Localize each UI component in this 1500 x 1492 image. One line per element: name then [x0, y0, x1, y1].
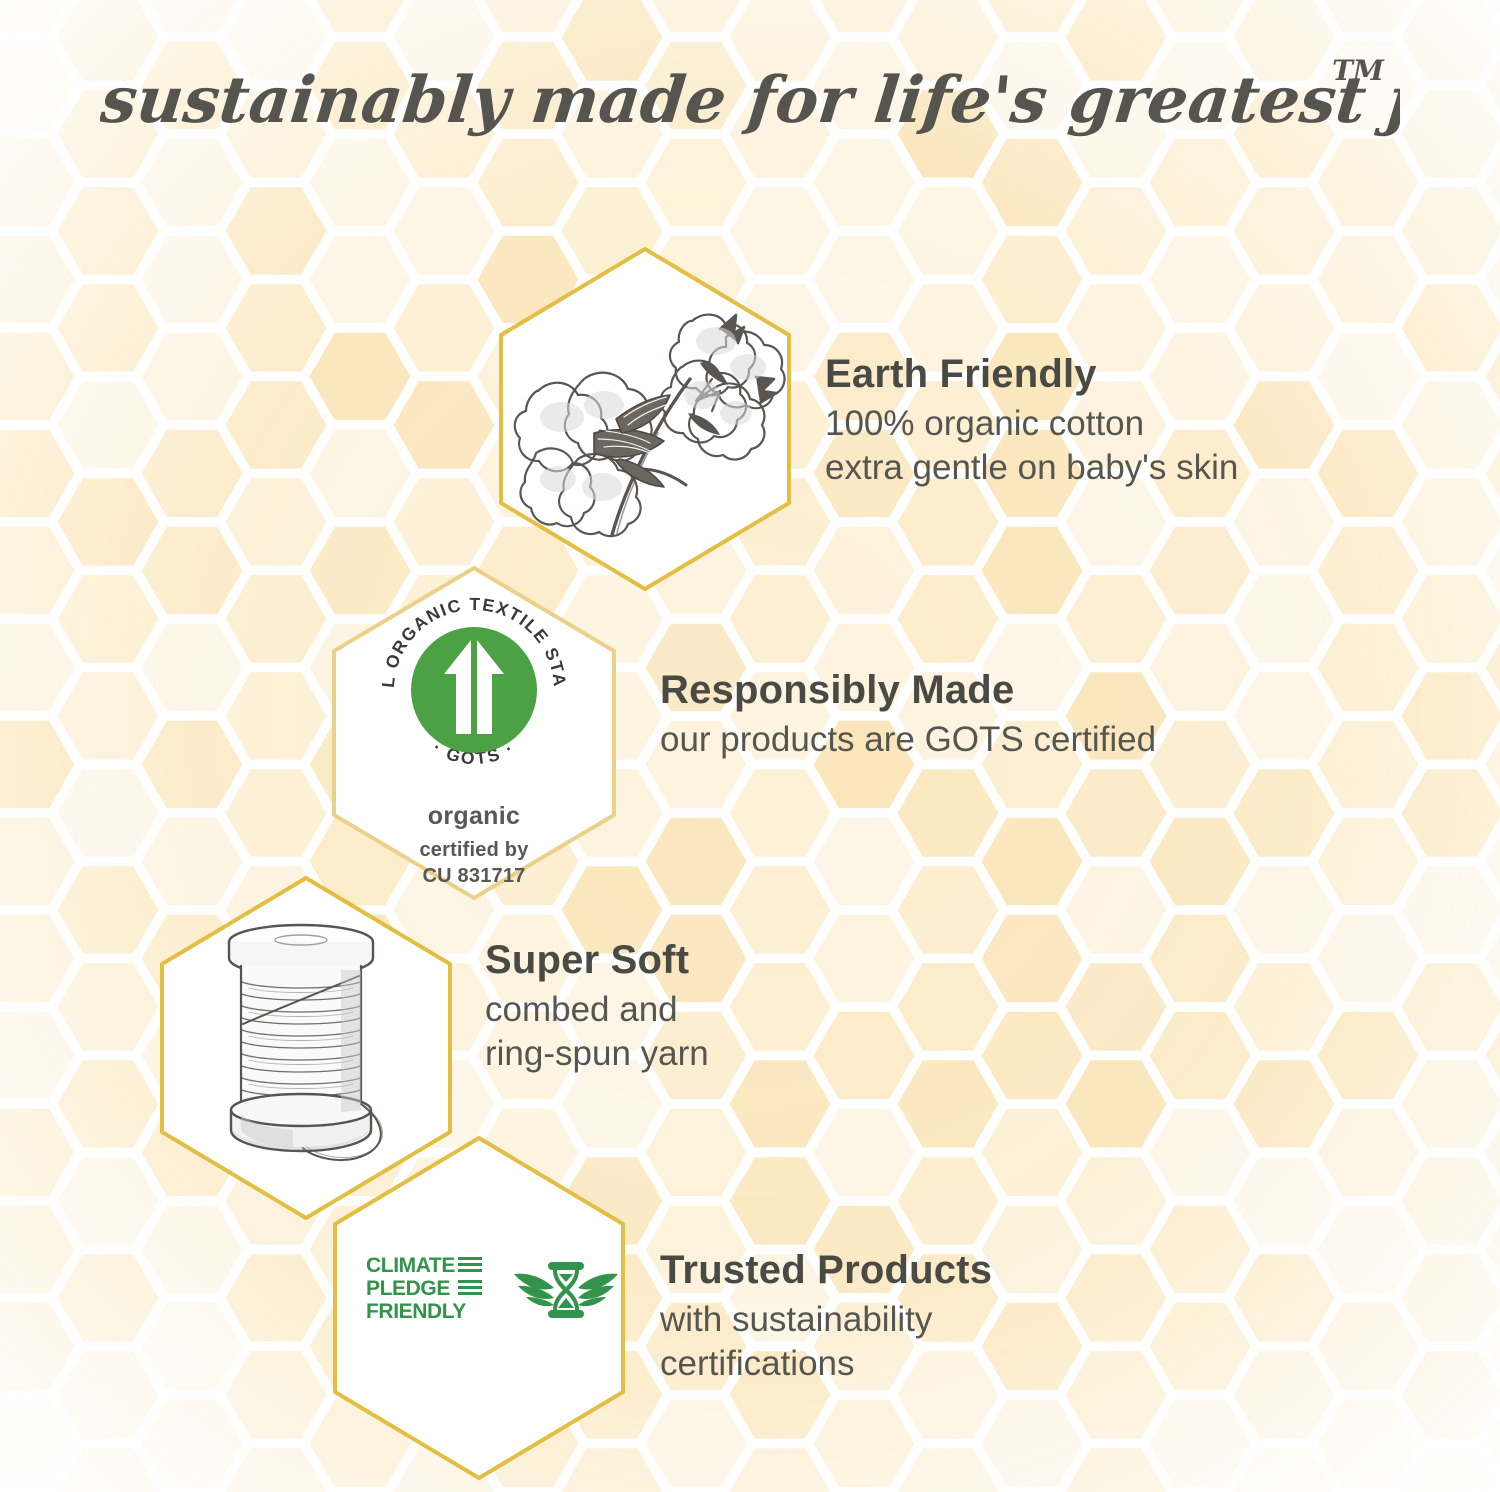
honeycomb-cell — [58, 1448, 159, 1492]
hexagon-card-super-soft — [145, 872, 467, 1224]
honeycomb-cell — [1318, 1206, 1419, 1293]
gots-green-disc — [411, 627, 537, 753]
honeycomb-cell — [982, 139, 1083, 226]
honeycomb-cell — [478, 42, 579, 129]
honeycomb-cell — [982, 0, 1083, 32]
honeycomb-cell — [310, 42, 411, 129]
honeycomb-cell — [478, 139, 579, 226]
honeycomb-cell — [1234, 575, 1335, 662]
honeycomb-cell — [1150, 1012, 1251, 1099]
honeycomb-cell — [1402, 769, 1500, 856]
honeycomb-cell — [310, 236, 411, 323]
honeycomb-cell — [58, 1157, 159, 1244]
honeycomb-cell — [730, 0, 831, 81]
honeycomb-cell — [226, 187, 327, 274]
honeycomb-cell — [1150, 818, 1251, 905]
honeycomb-cell — [1066, 963, 1167, 1050]
honeycomb-cell — [0, 721, 74, 808]
honeycomb-cell — [142, 42, 243, 129]
honeycomb-cell — [142, 236, 243, 323]
honeycomb-cell — [58, 575, 159, 662]
honeycomb-cell — [0, 915, 74, 1002]
honeycomb-cell — [982, 527, 1083, 614]
honeycomb-cell — [142, 624, 243, 711]
honeycomb-cell — [1402, 187, 1500, 274]
feature-heading: Trusted Products — [660, 1248, 1280, 1293]
honeycomb-cell — [898, 187, 999, 274]
honeycomb-cell — [898, 1157, 999, 1244]
honeycomb-cell — [1066, 575, 1167, 662]
honeycomb-cell — [142, 721, 243, 808]
honeycomb-cell — [1318, 915, 1419, 1002]
feature-heading: Super Soft — [485, 938, 1045, 983]
honeycomb-cell — [58, 90, 159, 177]
honeycomb-cell — [1066, 866, 1167, 953]
winged-hourglass-icon — [512, 1252, 620, 1328]
honeycomb-cell — [1234, 1157, 1335, 1244]
honeycomb-cell — [1150, 139, 1251, 226]
honeycomb-cell — [0, 818, 74, 905]
honeycomb-cell — [1066, 1157, 1167, 1244]
honeycomb-cell — [1318, 0, 1419, 32]
honeycomb-cell — [58, 381, 159, 468]
honeycomb-cell — [1402, 1254, 1500, 1341]
honeycomb-cell — [1318, 1109, 1419, 1196]
honeycomb-cell — [142, 1400, 243, 1487]
honeycomb-cell — [982, 1400, 1083, 1487]
honeycomb-cell — [226, 769, 327, 856]
honeycomb-cell — [1066, 187, 1167, 274]
honeycomb-cell — [1066, 1060, 1167, 1147]
honeycomb-cell — [814, 1109, 915, 1196]
honeycomb-cell — [1234, 769, 1335, 856]
honeycomb-cell — [646, 0, 747, 32]
honeycomb-cell — [646, 42, 747, 129]
honeycomb-cell — [1402, 963, 1500, 1050]
honeycomb-cell — [982, 236, 1083, 323]
honeycomb-cell — [1402, 866, 1500, 953]
honeycomb-cell — [814, 527, 915, 614]
climate-line-1: CLIMATE — [366, 1254, 455, 1277]
honeycomb-cell — [982, 1109, 1083, 1196]
honeycomb-cell — [0, 1206, 74, 1293]
feature-text-trusted-products: Trusted Products with sustainability cer… — [660, 1248, 1280, 1386]
honeycomb-cell — [1234, 187, 1335, 274]
honeycomb-cell — [730, 769, 831, 856]
honeycomb-cell — [1402, 90, 1500, 177]
honeycomb-cell — [646, 139, 747, 226]
honeycomb-cell — [0, 139, 74, 226]
honeycomb-cell — [1234, 963, 1335, 1050]
honeycomb-cell — [814, 0, 915, 32]
honeycomb-cell — [310, 139, 411, 226]
feature-body: with sustainability certifications — [660, 1298, 1280, 1386]
honeycomb-cell — [898, 90, 999, 177]
honeycomb-cell — [1318, 1400, 1419, 1487]
honeycomb-cell — [1402, 1060, 1500, 1147]
honeycomb-cell — [814, 42, 915, 129]
honeycomb-cell — [58, 963, 159, 1050]
honeycomb-cell — [58, 478, 159, 565]
honeycomb-cell — [1318, 527, 1419, 614]
honeycomb-cell — [394, 284, 495, 371]
gots-seal: GLOBAL ORGANIC TEXTILE STANDARD · GOTS · — [372, 588, 576, 792]
honeycomb-cell — [1402, 1448, 1500, 1492]
climate-line-3: FRIENDLY — [366, 1300, 466, 1323]
honeycomb-cell — [1150, 42, 1251, 129]
honeycomb-cell — [1402, 1157, 1500, 1244]
honeycomb-cell — [394, 90, 495, 177]
honeycomb-cell — [1150, 0, 1251, 32]
feature-text-responsibly-made: Responsibly Made our products are GOTS c… — [660, 668, 1380, 762]
honeycomb-cell — [58, 1351, 159, 1438]
honeycomb-cell — [0, 42, 74, 129]
honeycomb-cell — [58, 672, 159, 759]
honeycomb-cell — [730, 90, 831, 177]
honeycomb-cell — [898, 769, 999, 856]
feature-body: combed and ring-spun yarn — [485, 988, 1045, 1076]
honeycomb-cell — [562, 0, 663, 81]
honeycomb-cell — [898, 0, 999, 81]
honeycomb-cell — [1402, 672, 1500, 759]
honeycomb-cell — [814, 1400, 915, 1487]
honeycomb-cell — [1234, 90, 1335, 177]
honeycomb-cell — [142, 333, 243, 420]
honeycomb-cell — [0, 624, 74, 711]
certified-by-text: certified by — [419, 839, 528, 861]
honeycomb-cell — [1234, 1448, 1335, 1492]
climate-stripe-accents — [458, 1257, 482, 1295]
honeycomb-cell — [1150, 1400, 1251, 1487]
honeycomb-cell — [58, 866, 159, 953]
honeycomb-cell — [310, 0, 411, 32]
climate-pledge-friendly-icon: CLIMATE PLEDGE FRIENDLY — [366, 1252, 620, 1328]
feature-text-earth-friendly: Earth Friendly 100% organic cotton extra… — [825, 352, 1425, 490]
honeycomb-cell — [226, 284, 327, 371]
gots-certification-icon: GLOBAL ORGANIC TEXTILE STANDARD · GOTS ·… — [318, 588, 630, 889]
honeycomb-cell — [0, 1109, 74, 1196]
honeycomb-cell — [226, 0, 327, 81]
honeycomb-cell — [1402, 0, 1500, 81]
honeycomb-cell — [142, 527, 243, 614]
honeycomb-cell — [142, 139, 243, 226]
honeycomb-cell — [562, 90, 663, 177]
honeycomb-cell — [0, 527, 74, 614]
honeycomb-cell — [58, 769, 159, 856]
honeycomb-cell — [142, 1303, 243, 1390]
honeycomb-cell — [1402, 478, 1500, 565]
honeycomb-cell — [226, 1351, 327, 1438]
honeycomb-cell — [646, 1400, 747, 1487]
honeycomb-cell — [0, 333, 74, 420]
honeycomb-cell — [1066, 0, 1167, 81]
gots-organic-label: organic — [318, 802, 630, 831]
honeycomb-cell — [1402, 575, 1500, 662]
honeycomb-cell — [1066, 478, 1167, 565]
honeycomb-cell — [1318, 236, 1419, 323]
honeycomb-cell — [226, 478, 327, 565]
hexagon-card-responsibly-made: GLOBAL ORGANIC TEXTILE STANDARD · GOTS ·… — [318, 562, 630, 904]
honeycomb-cell — [226, 575, 327, 662]
honeycomb-cell — [394, 381, 495, 468]
honeycomb-cell — [982, 818, 1083, 905]
honeycomb-cell — [226, 381, 327, 468]
cotton-plant-icon — [520, 283, 770, 553]
honeycomb-cell — [1318, 42, 1419, 129]
climate-line-2: PLEDGE — [366, 1277, 450, 1300]
honeycomb-cell — [1066, 1448, 1167, 1492]
honeycomb-cell — [1318, 818, 1419, 905]
honeycomb-cell — [1318, 1303, 1419, 1390]
honeycomb-cell — [814, 236, 915, 323]
honeycomb-cell — [226, 90, 327, 177]
honeycomb-cell — [814, 818, 915, 905]
thread-spool-icon — [197, 914, 419, 1182]
honeycomb-cell — [0, 236, 74, 323]
honeycomb-cell — [58, 187, 159, 274]
honeycomb-cell — [1150, 527, 1251, 614]
climate-pledge-wordmark: CLIMATE PLEDGE FRIENDLY — [366, 1254, 496, 1326]
honeycomb-cell — [1234, 0, 1335, 81]
feature-body: 100% organic cotton extra gentle on baby… — [825, 402, 1425, 490]
honeycomb-cell — [226, 1448, 327, 1492]
honeycomb-cell — [1234, 1060, 1335, 1147]
honeycomb-cell — [58, 284, 159, 371]
honeycomb-cell — [394, 0, 495, 81]
honeycomb-cell — [394, 478, 495, 565]
honeycomb-cell — [1150, 236, 1251, 323]
honeycomb-cell — [730, 1448, 831, 1492]
honeycomb-cell — [0, 430, 74, 517]
feature-heading: Responsibly Made — [660, 668, 1380, 713]
honeycomb-cell — [814, 139, 915, 226]
honeycomb-cell — [1150, 1109, 1251, 1196]
infographic-canvas: sustainably made for life's greatest joy… — [0, 0, 1500, 1492]
honeycomb-cell — [226, 672, 327, 759]
honeycomb-cell — [58, 0, 159, 81]
honeycomb-cell — [1318, 139, 1419, 226]
honeycomb-cell — [1066, 90, 1167, 177]
honeycomb-cell — [142, 0, 243, 32]
honeycomb-cell — [394, 187, 495, 274]
hexagon-card-earth-friendly — [484, 243, 806, 595]
feature-text-super-soft: Super Soft combed and ring-spun yarn — [485, 938, 1045, 1076]
honeycomb-cell — [58, 1060, 159, 1147]
honeycomb-cell — [1318, 1012, 1419, 1099]
honeycomb-cell — [310, 333, 411, 420]
honeycomb-cell — [1234, 866, 1335, 953]
honeycomb-cell — [982, 42, 1083, 129]
honeycomb-cell — [898, 1448, 999, 1492]
honeycomb-cell — [478, 0, 579, 32]
honeycomb-cell — [1234, 478, 1335, 565]
honeycomb-cell — [142, 430, 243, 517]
honeycomb-cell — [310, 430, 411, 517]
honeycomb-cell — [898, 478, 999, 565]
hexagon-card-trusted-products: CLIMATE PLEDGE FRIENDLY — [318, 1196, 640, 1488]
honeycomb-cell — [1066, 769, 1167, 856]
honeycomb-cell — [1402, 1351, 1500, 1438]
honeycomb-cell — [0, 1012, 74, 1099]
honeycomb-cell — [0, 1400, 74, 1487]
honeycomb-cell — [0, 1303, 74, 1390]
honeycomb-cell — [646, 1109, 747, 1196]
feature-body: our products are GOTS certified — [660, 718, 1380, 762]
honeycomb-cell — [226, 1254, 327, 1341]
honeycomb-cell — [898, 575, 999, 662]
honeycomb-cell — [730, 1157, 831, 1244]
honeycomb-cell — [58, 1254, 159, 1341]
honeycomb-cell — [646, 818, 747, 905]
honeycomb-cell — [1150, 915, 1251, 1002]
feature-heading: Earth Friendly — [825, 352, 1425, 397]
